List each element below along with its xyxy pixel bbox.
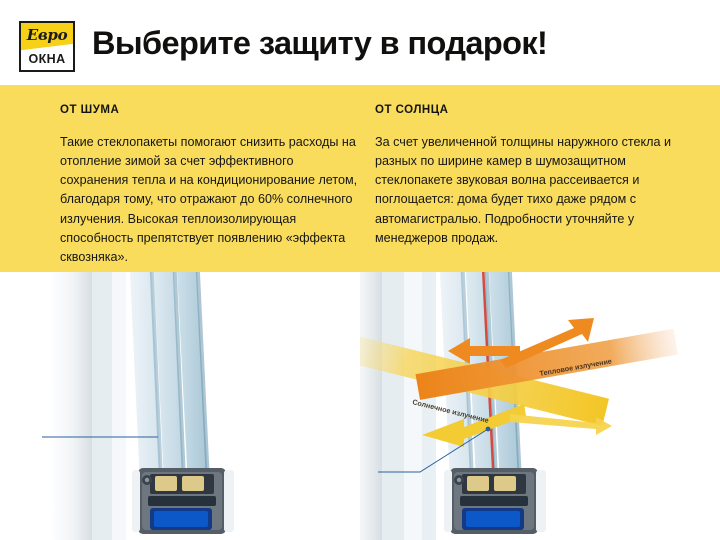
column-sun-body: За счет увеличенной толщины наружного ст… bbox=[375, 133, 680, 248]
column-sun: ОТ СОЛНЦА За счет увеличенной толщины на… bbox=[375, 104, 680, 248]
column-noise: ОТ ШУМА Такие стеклопакеты помогают сниз… bbox=[60, 104, 362, 267]
column-sun-heading: ОТ СОЛНЦА bbox=[375, 104, 680, 116]
poster-root: Евро ОКНА Выберите защиту в подарок! ОТ … bbox=[0, 0, 720, 540]
illustration-sun: Солнечное излучение Тепловое излучение bbox=[360, 272, 720, 540]
callout-line-glass bbox=[0, 272, 360, 540]
illustration-area: Стекло 6 мм bbox=[0, 272, 720, 540]
brand-logo[interactable]: Евро ОКНА bbox=[19, 21, 75, 72]
column-noise-body: Такие стеклопакеты помогают снизить расх… bbox=[60, 133, 362, 267]
window-cross-section-right: Солнечное излучение Тепловое излучение bbox=[360, 272, 720, 540]
frame-profile-right bbox=[444, 468, 546, 534]
illustration-noise: Стекло 6 мм bbox=[0, 272, 360, 540]
info-band: ОТ ШУМА Такие стеклопакеты помогают сниз… bbox=[0, 85, 720, 272]
page-title: Выберите защиту в подарок! bbox=[92, 24, 547, 63]
logo-okna-text: ОКНА bbox=[21, 52, 73, 66]
logo-evro-text: Евро bbox=[21, 26, 73, 44]
column-noise-heading: ОТ ШУМА bbox=[60, 104, 362, 116]
header: Евро ОКНА Выберите защиту в подарок! bbox=[0, 0, 720, 85]
